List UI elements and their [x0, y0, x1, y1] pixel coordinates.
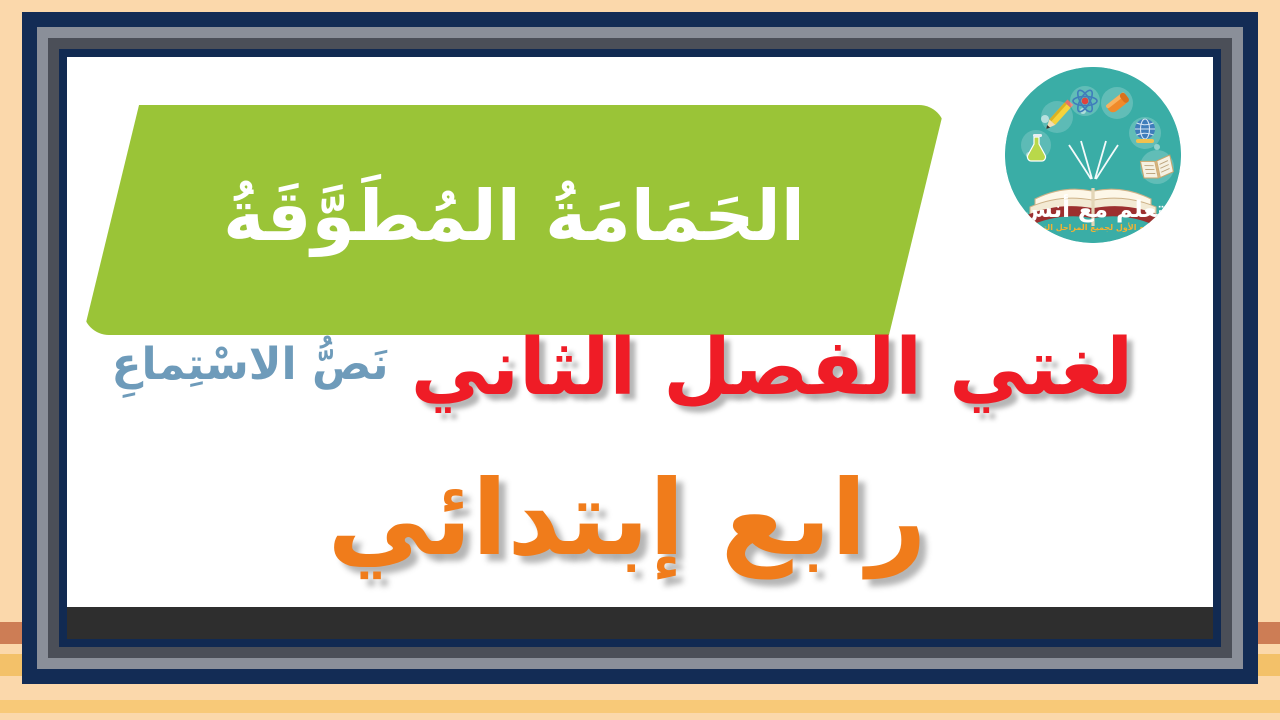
lesson-title-text: الحَمَامَةُ المُطَوَّقَةُ: [223, 173, 805, 267]
slide-page: الحَمَامَةُ المُطَوَّقَةُ: [67, 57, 1213, 607]
frame-outer-navy: الحَمَامَةُ المُطَوَّقَةُ: [22, 12, 1258, 684]
frame-charcoal-shelf: الحَمَامَةُ المُطَوَّقَةُ: [67, 57, 1213, 639]
small-book-icon: [1140, 150, 1174, 184]
logo-artwork: تعلم مع أنس المرجع الأول لجميع المراحل ا…: [1005, 67, 1181, 243]
channel-logo-badge[interactable]: تعلم مع أنس المرجع الأول لجميع المراحل ا…: [1005, 67, 1181, 243]
logo-brand-name: تعلم مع أنس: [1021, 193, 1165, 223]
globe-icon: [1129, 117, 1161, 149]
frame-dark-gray: الحَمَامَةُ المُطَوَّقَةُ: [48, 38, 1232, 658]
lesson-title-banner: الحَمَامَةُ المُطَوَّقَةُ: [83, 105, 945, 335]
mat-bottom-strip: [0, 700, 1280, 720]
atom-icon: [1070, 86, 1100, 116]
grade-level-heading: رابع إبتدائي: [67, 457, 1187, 579]
frame-gray: الحَمَامَةُ المُطَوَّقَةُ: [37, 27, 1243, 669]
frame-inner-navy: الحَمَامَةُ المُطَوَّقَةُ: [59, 49, 1221, 647]
logo-tagline: المرجع الأول لجميع المراحل التعليمية: [1019, 222, 1166, 232]
subject-and-term-heading: لغتي الفصل الثاني: [357, 323, 1187, 413]
slide-canvas: الحَمَامَةُ المُطَوَّقَةُ: [0, 0, 1280, 720]
crayon-icon: [1101, 87, 1133, 119]
